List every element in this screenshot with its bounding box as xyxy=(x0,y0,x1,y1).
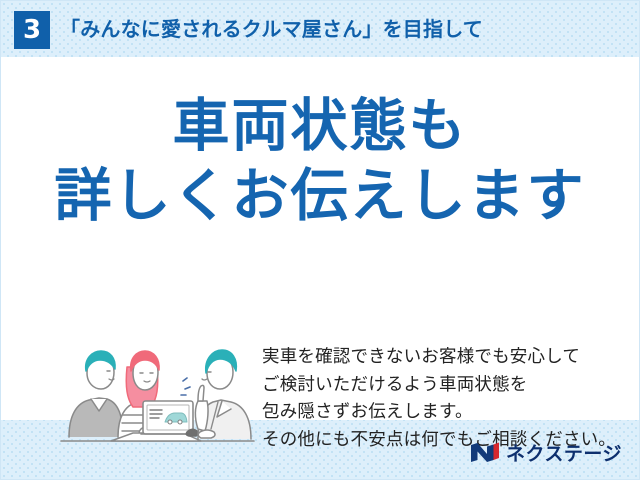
banner-header: 3 「みんなに愛されるクルマ屋さん」を目指して xyxy=(0,0,640,57)
body-copy: 実車を確認できないお客様でも安心して ご検討いただけるよう車両状態を 包み隠さず… xyxy=(262,343,614,454)
headline: 車両状態も 詳しくお伝えします xyxy=(0,97,640,225)
header-title: 「みんなに愛されるクルマ屋さん」を目指して xyxy=(60,13,483,42)
body-copy-line-1: 実車を確認できないお客様でも安心して xyxy=(262,343,614,371)
body-copy-line-3: 包み隠さずお伝えします。 xyxy=(262,398,614,426)
headline-line-2: 詳しくお伝えします xyxy=(0,167,640,225)
body-copy-line-2: ご検討いただけるよう車両状態を xyxy=(262,371,614,399)
brand-logo: ネクステージ xyxy=(470,439,622,466)
promo-banner: 3 「みんなに愛されるクルマ屋さん」を目指して 車両状態も 詳しくお伝えします xyxy=(0,0,640,480)
headline-line-1: 車両状態も xyxy=(0,97,640,155)
nextage-n-mark-icon xyxy=(470,441,500,464)
step-number-badge: 3 xyxy=(14,11,50,49)
consultation-illustration xyxy=(55,329,260,449)
content-card: 車両状態も 詳しくお伝えします xyxy=(0,57,640,420)
consultation-illustration-svg xyxy=(55,329,260,449)
brand-logo-text: ネクステージ xyxy=(506,439,622,466)
